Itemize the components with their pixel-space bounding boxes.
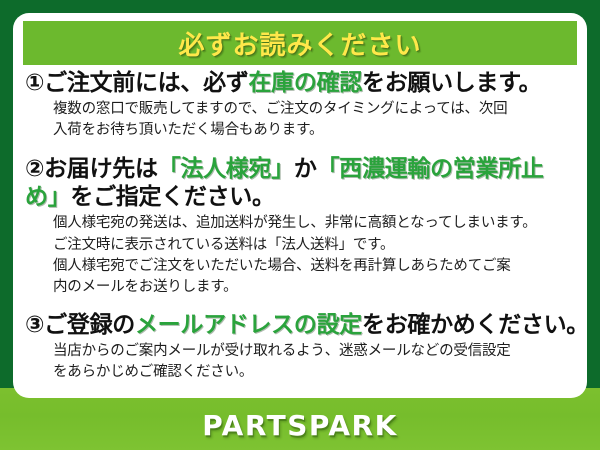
notice-item-3-heading: ③ご登録のメールアドレスの設定をお確かめください。 xyxy=(25,311,577,339)
notice-item-3-body-line-2: をあらかじめご確認ください。 xyxy=(53,362,577,383)
notice-item-2-body-line-2: ご注文時に表示されている送料は「法人送料」です。 xyxy=(53,235,577,256)
notice-item-3-heading-part-3: をお確かめください。 xyxy=(362,312,587,338)
notice-item-3-body: 当店からのご案内メールが受け取れるよう、迷惑メールなどの受信設定 をあらかじめご… xyxy=(53,341,577,383)
brand-logo-partspark: PARTSPARK xyxy=(0,409,600,442)
notice-item-2-body-line-4: 内のメールをお送りします。 xyxy=(53,277,577,298)
notice-item-1-heading-part-3: をお願いします。 xyxy=(362,70,541,96)
notice-item-1-heading: ①ご注文前には、必ず在庫の確認をお願いします。 xyxy=(25,69,577,97)
notice-item-3: ③ご登録のメールアドレスの設定をお確かめください。 当店からのご案内メールが受け… xyxy=(25,311,577,383)
notice-item-3-heading-highlight: メールアドレスの設定 xyxy=(135,312,362,338)
notice-item-2-body-line-3: 個人様宅宛でご注文をいただいた場合、送料を再計算しあらためてご案 xyxy=(53,256,577,277)
notice-item-2-body: 個人様宅宛の発送は、追加送料が発生し、非常に高額となってしまいます。 ご注文時に… xyxy=(53,213,577,298)
notice-item-2: ②お届け先は「法人様宛」か「西濃運輸の営業所止め」をご指定ください。 個人様宅宛… xyxy=(25,155,577,298)
notice-item-3-heading-part-1: ③ご登録の xyxy=(25,312,135,338)
notice-item-2-heading: ②お届け先は「法人様宛」か「西濃運輸の営業所止め」をご指定ください。 xyxy=(25,155,577,211)
notice-item-1-body-line-2: 入荷をお待ち頂いただく場合もあります。 xyxy=(53,120,577,141)
notice-banner: 必ずお読みください ①ご注文前には、必ず在庫の確認をお願いします。 複数の窓口で… xyxy=(0,0,600,450)
notice-body: ①ご注文前には、必ず在庫の確認をお願いします。 複数の窓口で販売してますので、ご… xyxy=(13,69,587,389)
notice-item-1-body-line-1: 複数の窓口で販売してますので、ご注文のタイミングによっては、次回 xyxy=(53,99,577,120)
notice-item-1-heading-highlight: 在庫の確認 xyxy=(248,70,362,96)
header-title: 必ずお読みください xyxy=(178,25,421,62)
notice-card: 必ずお読みください ①ご注文前には、必ず在庫の確認をお願いします。 複数の窓口で… xyxy=(13,13,587,398)
notice-item-2-heading-part-3: か xyxy=(294,156,317,182)
notice-item-2-body-line-1: 個人様宅宛の発送は、追加送料が発生し、非常に高額となってしまいます。 xyxy=(53,213,577,234)
notice-item-1-body: 複数の窓口で販売してますので、ご注文のタイミングによっては、次回 入荷をお待ち頂… xyxy=(53,99,577,141)
notice-item-1: ①ご注文前には、必ず在庫の確認をお願いします。 複数の窓口で販売してますので、ご… xyxy=(25,69,577,141)
notice-item-2-heading-highlight-1: 「法人様宛」 xyxy=(158,156,294,182)
notice-item-2-heading-part-1: ②お届け先は xyxy=(25,156,158,182)
notice-item-1-heading-part-1: ①ご注文前には、必ず xyxy=(25,70,248,96)
header-bar: 必ずお読みください xyxy=(23,21,577,65)
notice-item-3-body-line-1: 当店からのご案内メールが受け取れるよう、迷惑メールなどの受信設定 xyxy=(53,341,577,362)
notice-item-2-heading-part-5: をご指定ください。 xyxy=(70,184,274,210)
